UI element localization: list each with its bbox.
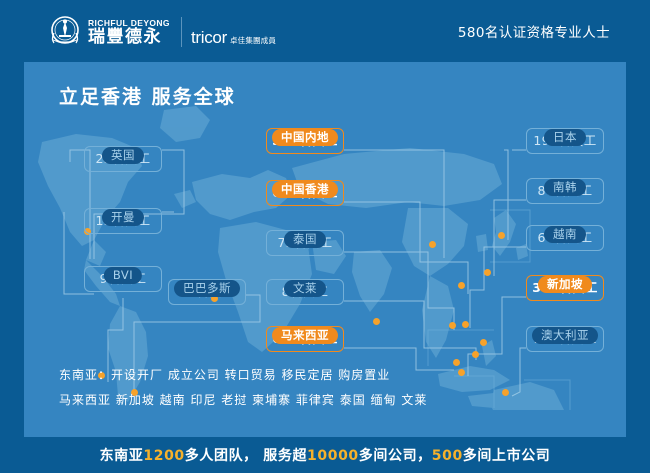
location-name: 南韩	[544, 179, 586, 196]
location-card-bvi[interactable]: BVI 9名员工	[84, 258, 162, 292]
singapore-dot	[458, 369, 465, 376]
brand-wordmark: RICHFUL DEYONG 瑞豐德永	[88, 15, 170, 49]
location-card-hong-kong[interactable]: 中国香港 681名员工	[266, 172, 344, 206]
location-box: 巴巴多斯 14名员工	[168, 279, 246, 305]
location-box: 南韩 87名员工	[526, 178, 604, 204]
header-tagline-text: 580名认证资格专业人士	[458, 21, 610, 41]
header-bar: RICHFUL DEYONG 瑞豐德永 tricor 卓佳集團成員 580名认证…	[0, 0, 650, 62]
location-card-vietnam[interactable]: 越南 60名员工	[526, 217, 604, 251]
location-card-japan[interactable]: 日本 195名员工	[526, 120, 604, 154]
service-note-line-1: 东南亚：开设开厂 成立公司 转口贸易 移民定居 购房置业	[59, 363, 427, 388]
location-box: 中国香港 681名员工	[266, 180, 344, 206]
location-name: 新加坡	[538, 276, 592, 293]
location-name: 开曼	[102, 209, 144, 226]
footer-seg-1: 东南亚	[100, 448, 144, 464]
location-card-cayman[interactable]: 开曼 15名员工	[84, 200, 162, 234]
crest-icon	[47, 15, 83, 49]
location-name: BVI	[104, 267, 142, 284]
location-name: 中国香港	[272, 181, 338, 198]
partner-sub: 卓佳集團成員	[230, 35, 276, 47]
location-card-brunei[interactable]: 文莱 8名员工	[266, 271, 344, 305]
location-card-malaysia[interactable]: 马来西亚 680名员工	[266, 318, 344, 352]
malaysia-dot	[453, 359, 460, 366]
location-card-barbados[interactable]: 巴巴多斯 14名员工	[168, 271, 246, 305]
location-name: 泰国	[284, 231, 326, 248]
location-name: 巴巴多斯	[174, 280, 240, 297]
location-box: 日本 195名员工	[526, 128, 604, 154]
location-box: 泰国 75名员工	[266, 230, 344, 256]
location-name: 日本	[544, 129, 586, 146]
footer-num-listed: 500	[432, 448, 463, 464]
hongkong-dot	[458, 282, 465, 289]
partner-name: tricor	[191, 29, 227, 47]
location-name: 澳大利亚	[532, 327, 598, 344]
australia-dot	[502, 389, 509, 396]
brand-divider	[181, 17, 182, 47]
korea-dot	[484, 269, 491, 276]
location-box: 开曼 15名员工	[84, 208, 162, 234]
vietnam-dot	[462, 321, 469, 328]
location-card-singapore[interactable]: 新加坡 343名员工	[526, 267, 604, 301]
location-box: 澳大利亚 195名员工	[526, 326, 604, 352]
japan-dot	[498, 232, 505, 239]
location-box: 马来西亚 680名员工	[266, 326, 344, 352]
footer-statement: 东南亚1200多人团队， 服务超10000多间公司，500多间上市公司	[100, 445, 551, 465]
location-card-mainland-china[interactable]: 中国内地 393名员工	[266, 120, 344, 154]
location-name: 中国内地	[272, 129, 338, 146]
brunei-dot	[472, 351, 479, 358]
brand-logo: RICHFUL DEYONG 瑞豐德永 tricor 卓佳集團成員	[47, 14, 276, 50]
thailand-dot	[449, 322, 456, 329]
service-note-line-2: 马来西亚 新加坡 越南 印尼 老挝 柬埔寨 菲律宾 泰国 缅甸 文莱	[59, 388, 427, 413]
location-box: 新加坡 343名员工	[526, 275, 604, 301]
footer-num-companies: 10000	[307, 448, 359, 464]
brand-cn: 瑞豐德永	[88, 28, 170, 47]
location-box: 文莱 8名员工	[266, 279, 344, 305]
footer-seg-3: 多间公司，	[359, 448, 432, 464]
footer-num-team: 1200	[143, 448, 184, 464]
india-dot	[373, 318, 380, 325]
location-name: 英国	[102, 147, 144, 164]
service-notes: 东南亚：开设开厂 成立公司 转口贸易 移民定居 购房置业 马来西亚 新加坡 越南…	[59, 363, 427, 413]
location-box: BVI 9名员工	[84, 266, 162, 292]
location-card-australia[interactable]: 澳大利亚 195名员工	[526, 318, 604, 352]
location-name: 马来西亚	[272, 327, 338, 344]
footer-seg-4: 多间上市公司	[463, 448, 551, 464]
footer-seg-2: 多人团队， 服务超	[185, 448, 307, 464]
location-box: 越南 60名员工	[526, 225, 604, 251]
location-box: 英国 23名员工	[84, 146, 162, 172]
footer-bar: 东南亚1200多人团队， 服务超10000多间公司，500多间上市公司	[0, 437, 650, 473]
main-panel: 立足香港 服务全球	[24, 62, 626, 437]
location-card-thailand[interactable]: 泰国 75名员工	[266, 222, 344, 256]
location-name: 文莱	[284, 280, 326, 297]
china-dot	[429, 241, 436, 248]
poster: RICHFUL DEYONG 瑞豐德永 tricor 卓佳集團成員 580名认证…	[0, 0, 650, 473]
location-card-south-korea[interactable]: 南韩 87名员工	[526, 170, 604, 204]
location-name: 越南	[544, 226, 586, 243]
brand-en: RICHFUL DEYONG	[88, 18, 170, 28]
location-box: 中国内地 393名员工	[266, 128, 344, 154]
philippines-dot	[480, 339, 487, 346]
partner-logo: tricor 卓佳集團成員	[191, 13, 276, 51]
location-card-uk[interactable]: 英国 23名员工	[84, 138, 162, 172]
header-tagline: 580名认证资格专业人士	[458, 0, 610, 62]
